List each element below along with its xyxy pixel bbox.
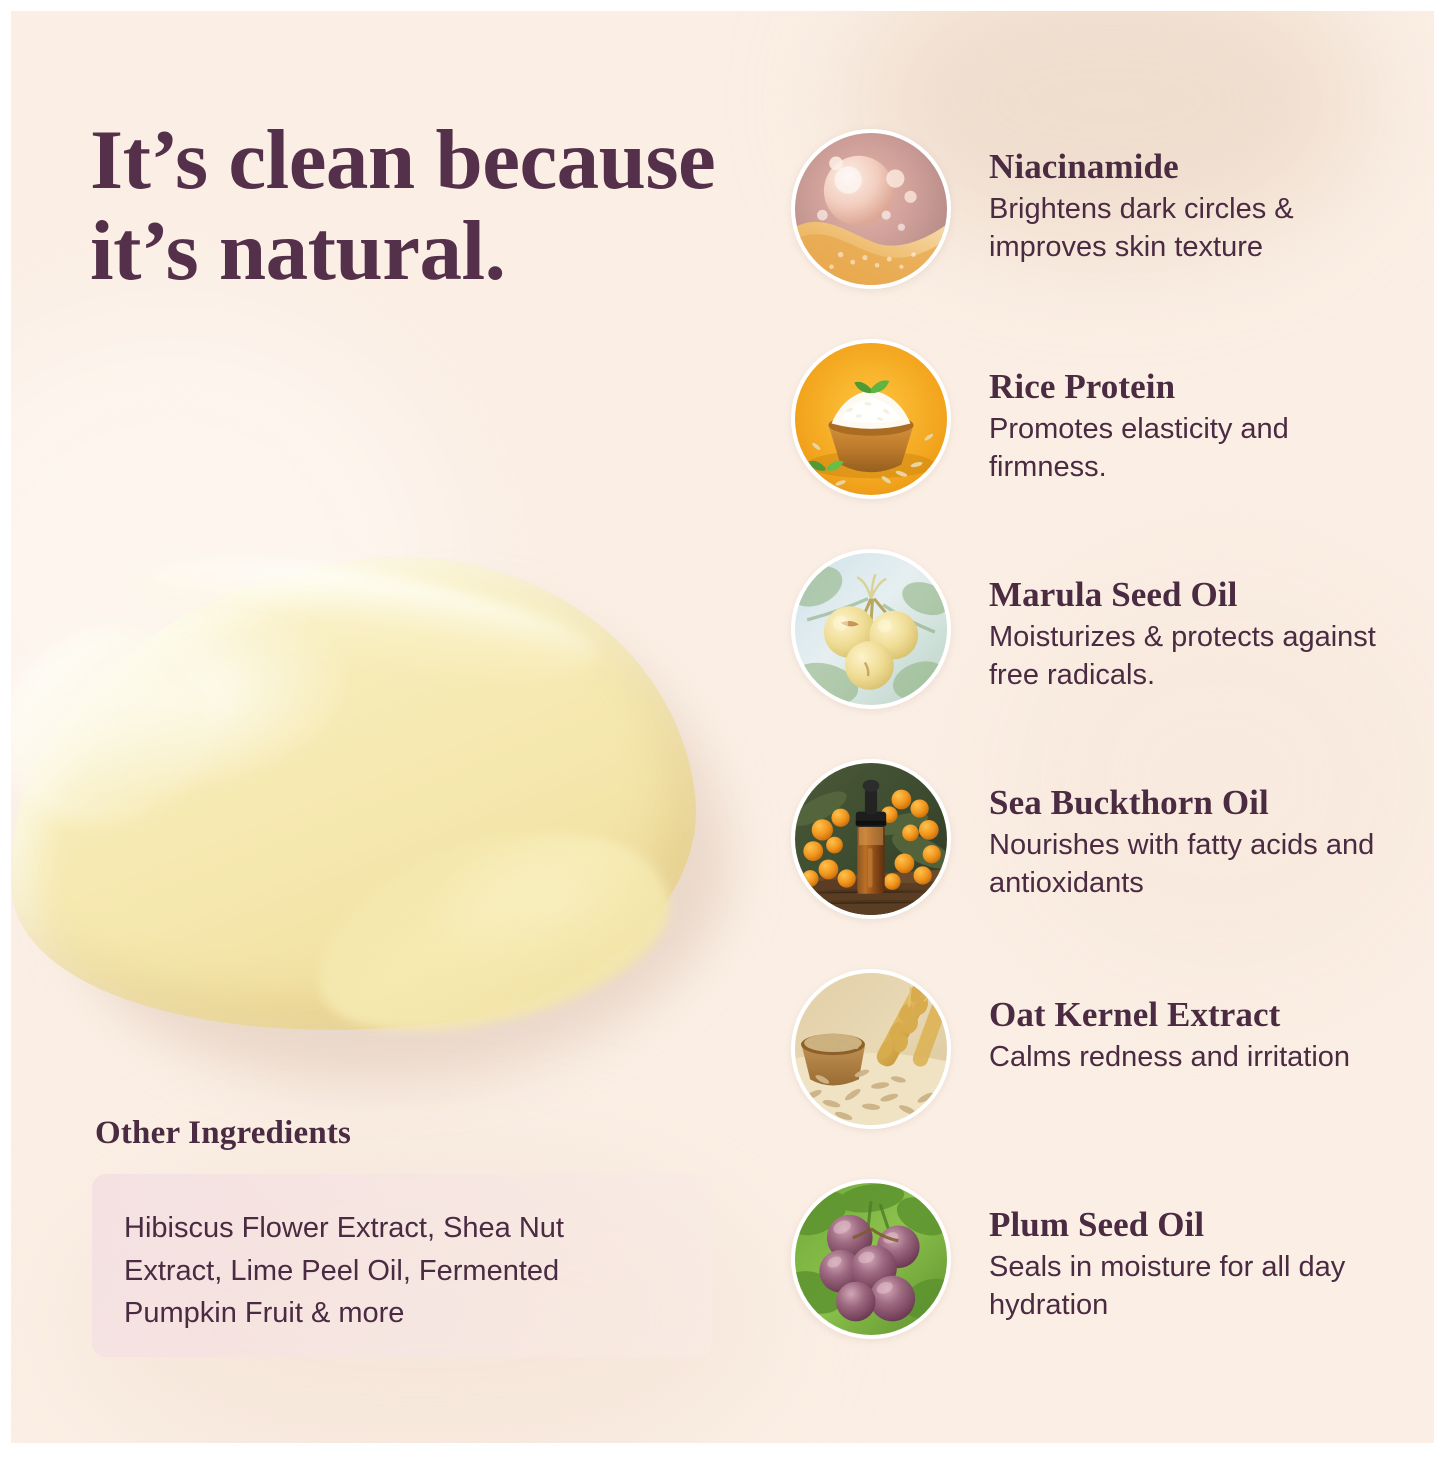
ingredient-description: Calms redness and irritation bbox=[989, 1038, 1389, 1076]
cream-swatch-highlight bbox=[126, 537, 605, 705]
list-item: Marula Seed Oil Moisturizes & protects a… bbox=[791, 549, 1391, 759]
other-ingredients-title: Other Ingredients bbox=[95, 1115, 351, 1152]
plum-cluster-icon bbox=[791, 1179, 951, 1339]
other-ingredients-text: Hibiscus Flower Extract, Shea Nut Extrac… bbox=[124, 1207, 664, 1335]
list-item: Rice Protein Promotes elasticity and fir… bbox=[791, 339, 1391, 549]
rice-bowl-icon bbox=[791, 339, 951, 499]
ingredient-name: Niacinamide bbox=[989, 147, 1389, 186]
list-item: Oat Kernel Extract Calms redness and irr… bbox=[791, 969, 1391, 1179]
ingredient-text: Rice Protein Promotes elasticity and fir… bbox=[989, 367, 1389, 487]
cream-swatch-body bbox=[11, 523, 719, 1074]
ingredient-description: Moisturizes & protects against free radi… bbox=[989, 618, 1389, 695]
ingredient-description: Seals in moisture for all day hydration bbox=[989, 1248, 1389, 1325]
dropper-bottle-berries-icon bbox=[791, 759, 951, 919]
ingredient-name: Rice Protein bbox=[989, 367, 1389, 406]
cream-swatch-shadow bbox=[37, 570, 756, 1127]
cream-swatch-image bbox=[11, 511, 771, 1131]
cream-swatch-lip bbox=[295, 800, 688, 1062]
list-item: Plum Seed Oil Seals in moisture for all … bbox=[791, 1179, 1391, 1389]
ingredient-name: Plum Seed Oil bbox=[989, 1205, 1389, 1244]
ingredient-text: Marula Seed Oil Moisturizes & protects a… bbox=[989, 575, 1389, 695]
list-item: Niacinamide Brightens dark circles & imp… bbox=[791, 129, 1391, 339]
ingredient-text: Plum Seed Oil Seals in moisture for all … bbox=[989, 1205, 1389, 1325]
marula-fruit-icon bbox=[791, 549, 951, 709]
infographic-canvas: It’s clean because it’s natural. Other I… bbox=[11, 11, 1434, 1443]
ingredient-text: Oat Kernel Extract Calms redness and irr… bbox=[989, 995, 1389, 1076]
product-ingredients-infographic: It’s clean because it’s natural. Other I… bbox=[0, 0, 1445, 1459]
ingredient-text: Sea Buckthorn Oil Nourishes with fatty a… bbox=[989, 783, 1389, 903]
ingredient-name: Marula Seed Oil bbox=[989, 575, 1389, 614]
ingredient-list: Niacinamide Brightens dark circles & imp… bbox=[791, 129, 1391, 1389]
ingredient-text: Niacinamide Brightens dark circles & imp… bbox=[989, 147, 1389, 267]
oat-grains-bowl-icon bbox=[791, 969, 951, 1129]
ingredient-name: Sea Buckthorn Oil bbox=[989, 783, 1389, 822]
ingredient-description: Brightens dark circles & improves skin t… bbox=[989, 190, 1389, 267]
page-title: It’s clean because it’s natural. bbox=[90, 115, 730, 297]
serum-bubbles-icon bbox=[791, 129, 951, 289]
cream-swatch-tail bbox=[11, 603, 233, 849]
ingredient-description: Nourishes with fatty acids and antioxida… bbox=[989, 826, 1389, 903]
ingredient-name: Oat Kernel Extract bbox=[989, 995, 1389, 1034]
ingredient-description: Promotes elasticity and firmness. bbox=[989, 410, 1389, 487]
background-sheen bbox=[11, 311, 451, 831]
list-item: Sea Buckthorn Oil Nourishes with fatty a… bbox=[791, 759, 1391, 969]
